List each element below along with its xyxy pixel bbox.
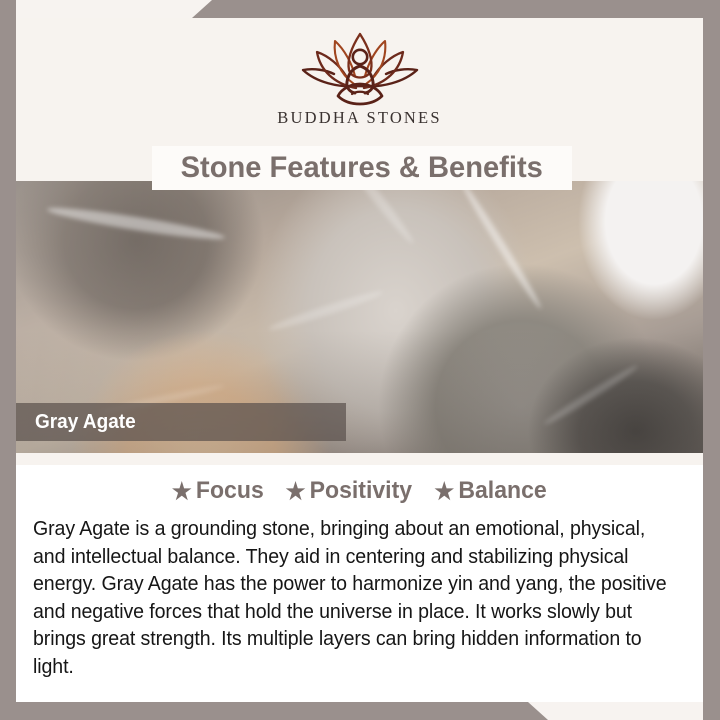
brand-logo: BUDDHA STONES	[16, 26, 703, 128]
frame-band-top	[0, 0, 720, 18]
body-top-divider	[16, 453, 703, 465]
stone-description: Gray Agate is a grounding stone, bringin…	[33, 516, 668, 681]
keyword-label: Positivity	[310, 477, 412, 505]
frame-band-bottom	[0, 702, 720, 720]
star-icon: ★	[172, 481, 191, 501]
frame-band-right	[703, 0, 720, 720]
keyword-focus: ★ Focus	[172, 477, 264, 505]
lotus-meditation-icon	[276, 26, 444, 106]
keyword-balance: ★ Balance	[434, 477, 546, 505]
star-icon: ★	[286, 481, 305, 501]
frame-band-left	[0, 0, 16, 720]
stone-name-label: Gray Agate	[16, 411, 136, 434]
stone-photo: Gray Agate	[16, 181, 703, 453]
stone-info-card: BUDDHA STONES Gray Agate Stone Features …	[0, 0, 720, 720]
card-body: ★ Focus ★ Positivity ★ Balance Gray Agat…	[16, 453, 703, 702]
card-panel: BUDDHA STONES Gray Agate Stone Features …	[16, 18, 703, 702]
keyword-list: ★ Focus ★ Positivity ★ Balance	[16, 477, 703, 505]
keyword-positivity: ★ Positivity	[286, 477, 412, 505]
keyword-label: Balance	[458, 477, 546, 505]
page-title-plate: Stone Features & Benefits	[152, 146, 572, 190]
page-title: Stone Features & Benefits	[181, 151, 543, 185]
brand-wordmark: BUDDHA STONES	[277, 108, 441, 128]
star-icon: ★	[434, 481, 453, 501]
keyword-label: Focus	[196, 477, 264, 505]
stone-name-band: Gray Agate	[16, 403, 346, 441]
